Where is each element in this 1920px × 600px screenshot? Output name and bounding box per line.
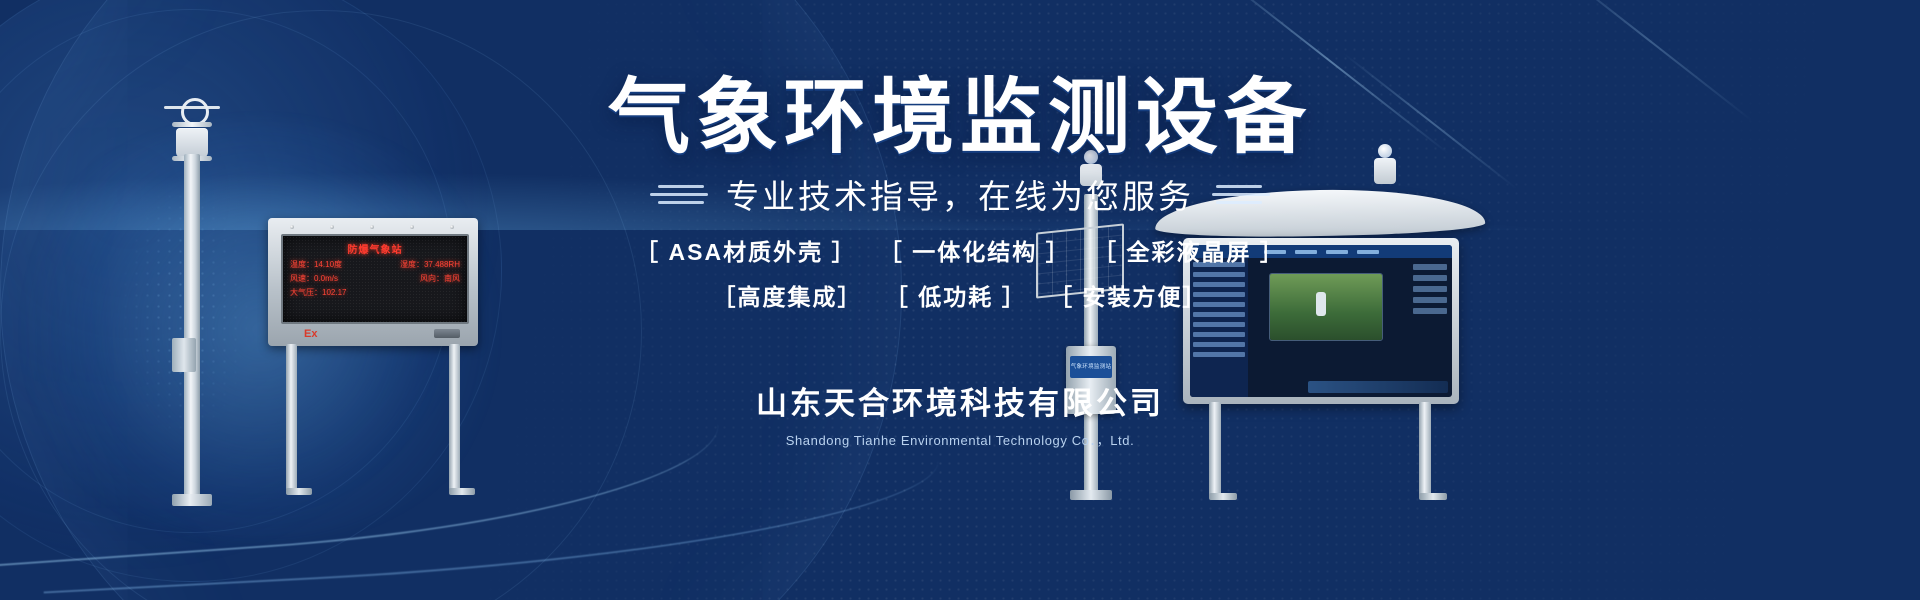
feature-tag-full-color-lcd: ［ 全彩液晶屏 ］ — [1093, 239, 1285, 265]
feature-tag-easy-install: ［ 安装方便］ — [1049, 284, 1207, 310]
feature-tag-high-integration: ［高度集成］ — [713, 284, 863, 310]
feature-row-2: ［高度集成］ ［ 低功耗 ］ ［ 安装方便］ — [706, 278, 1215, 312]
banner-root: 防爆气象站 温度：14.10度 湿度：37.488RH 风速：0.0m/s 风向… — [0, 0, 1920, 600]
page-title: 气象环境监测设备 — [608, 50, 1312, 169]
subtitle-row: 专业技术指导，在线为您服务 — [646, 170, 1274, 218]
subtitle-deco-left-icon — [646, 185, 708, 204]
feature-tag-integrated-structure: ［ 一体化结构 ］ — [879, 239, 1071, 265]
company-block: 山东天合环境科技有限公司 Shandong Tianhe Environment… — [756, 378, 1164, 449]
subtitle-deco-right-icon — [1212, 185, 1274, 204]
company-name-en: Shandong Tianhe Environmental Technology… — [756, 430, 1164, 449]
text-content: 气象环境监测设备 专业技术指导，在线为您服务 ［ ASA材质外壳 ］ ［ 一体化… — [0, 0, 1920, 600]
feature-tag-low-power: ［ 低功耗 ］ — [885, 284, 1027, 310]
feature-tag-asa-shell: ［ ASA材质外壳 ］ — [635, 239, 856, 265]
company-name-cn: 山东天合环境科技有限公司 — [756, 378, 1164, 423]
subtitle-text: 专业技术指导，在线为您服务 — [726, 170, 1194, 218]
feature-row-1: ［ ASA材质外壳 ］ ［ 一体化结构 ］ ［ 全彩液晶屏 ］ — [628, 233, 1292, 267]
